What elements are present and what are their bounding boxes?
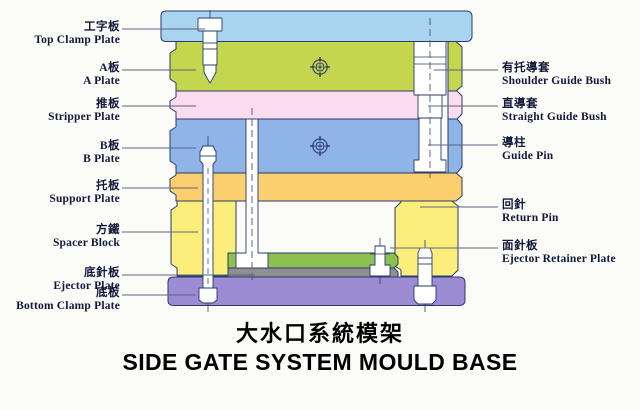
label-return-pin: 回針 Return Pin	[502, 199, 640, 225]
label-stripper-plate: 推板 Stripper Plate	[0, 98, 120, 124]
label-bottom-clamp-plate-cn: 底板	[0, 287, 120, 300]
label-a-plate: A板 A Plate	[0, 62, 120, 88]
label-ejector-plate-cn: 底針板	[0, 267, 120, 280]
label-straight-guide-bush: 直導套 Straight Guide Bush	[502, 98, 640, 124]
label-b-plate-cn: B板	[0, 140, 120, 153]
label-top-clamp-plate: 工字板 Top Clamp Plate	[0, 21, 120, 47]
label-stripper-plate-en: Stripper Plate	[0, 111, 120, 124]
label-spacer-block: 方鐵 Spacer Block	[0, 224, 120, 250]
label-a-plate-cn: A板	[0, 62, 120, 75]
label-guide-pin-cn: 導柱	[502, 137, 640, 150]
label-shoulder-guide-bush-en: Shoulder Guide Bush	[502, 75, 640, 88]
label-b-plate-en: B Plate	[0, 153, 120, 166]
label-guide-pin: 導柱 Guide Pin	[502, 137, 640, 163]
label-spacer-block-en: Spacer Block	[0, 237, 120, 250]
diagram-title: 大水口系統模架 SIDE GATE SYSTEM MOULD BASE	[0, 316, 640, 376]
label-support-plate-cn: 托板	[0, 180, 120, 193]
part-b-plate-right-ear	[448, 119, 462, 173]
label-spacer-block-cn: 方鐵	[0, 224, 120, 237]
label-return-pin-cn: 回針	[502, 199, 640, 212]
label-a-plate-en: A Plate	[0, 75, 120, 88]
diagram-title-cn: 大水口系統模架	[0, 316, 640, 348]
part-a-plate-right-ear	[448, 42, 462, 92]
label-bottom-clamp-plate-en: Bottom Clamp Plate	[0, 300, 120, 313]
label-shoulder-guide-bush-cn: 有托導套	[502, 62, 640, 75]
part-stripper-plate	[170, 91, 438, 119]
part-support-plate	[170, 173, 462, 201]
label-shoulder-guide-bush: 有托導套 Shoulder Guide Bush	[502, 62, 640, 88]
label-guide-pin-en: Guide Pin	[502, 150, 640, 163]
label-straight-guide-bush-cn: 直導套	[502, 98, 640, 111]
diagram-root: 工字板 Top Clamp Plate A板 A Plate 推板 Stripp…	[0, 0, 640, 410]
label-b-plate: B板 B Plate	[0, 140, 120, 166]
part-stripper-plate-right-ear	[448, 91, 462, 119]
label-ejector-retainer-plate-en: Ejector Retainer Plate	[502, 253, 640, 266]
label-return-pin-en: Return Pin	[502, 212, 640, 225]
label-ejector-retainer-plate-cn: 面針板	[502, 240, 640, 253]
label-bottom-clamp-plate: 底板 Bottom Clamp Plate	[0, 287, 120, 313]
label-support-plate-en: Support Plate	[0, 193, 120, 206]
label-straight-guide-bush-en: Straight Guide Bush	[502, 111, 640, 124]
label-top-clamp-plate-cn: 工字板	[0, 21, 120, 34]
label-ejector-retainer-plate: 面針板 Ejector Retainer Plate	[502, 240, 640, 266]
label-stripper-plate-cn: 推板	[0, 98, 120, 111]
label-top-clamp-plate-en: Top Clamp Plate	[0, 34, 120, 47]
diagram-title-en: SIDE GATE SYSTEM MOULD BASE	[0, 349, 640, 376]
label-support-plate: 托板 Support Plate	[0, 180, 120, 206]
